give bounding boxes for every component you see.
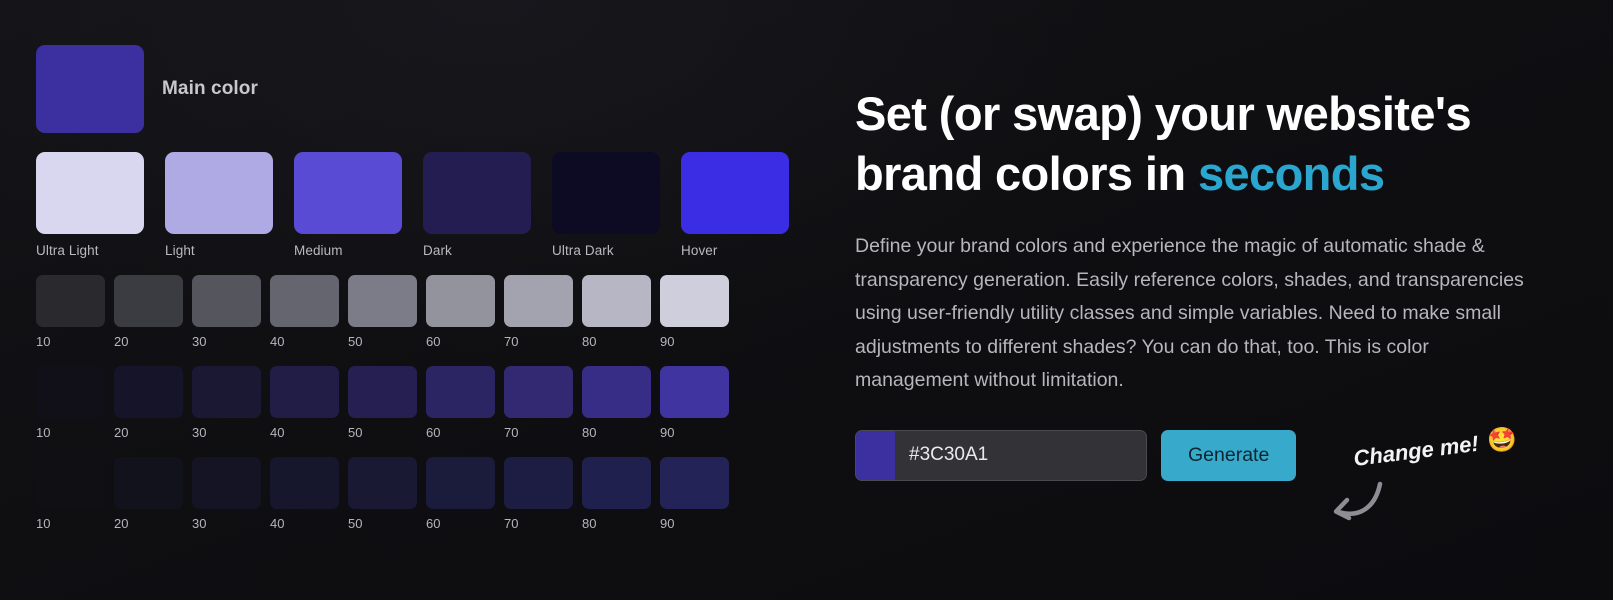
curved-arrow-icon	[1325, 478, 1383, 526]
color-palette-generator-page: Main color Ultra LightLightMediumDarkUlt…	[0, 0, 1613, 600]
named-shade-label: Hover	[681, 243, 789, 258]
star-struck-emoji-icon: 🤩	[1486, 427, 1519, 454]
shade-swatch[interactable]	[192, 457, 261, 509]
shade-cell: 30	[192, 366, 261, 440]
shade-step-label: 80	[582, 334, 651, 349]
generate-form: Generate Change me! 🤩	[855, 430, 1545, 481]
named-shade-label: Dark	[423, 243, 531, 258]
shade-cell: 30	[192, 275, 261, 349]
hex-color-input[interactable]	[895, 431, 1147, 480]
brand-transparencies-row: 102030405060708090	[36, 457, 796, 531]
shade-swatch[interactable]	[426, 275, 495, 327]
shade-swatch[interactable]	[114, 275, 183, 327]
named-shade-label: Ultra Dark	[552, 243, 660, 258]
shade-swatch[interactable]	[582, 457, 651, 509]
shade-swatch[interactable]	[192, 275, 261, 327]
generate-button[interactable]: Generate	[1161, 430, 1296, 481]
shade-swatch[interactable]	[270, 366, 339, 418]
shade-swatch[interactable]	[348, 275, 417, 327]
shade-swatch[interactable]	[660, 366, 729, 418]
shade-swatch[interactable]	[36, 366, 105, 418]
named-shade-cell: Medium	[294, 152, 402, 258]
hero-panel: Set (or swap) your website's brand color…	[855, 84, 1545, 481]
shade-step-label: 60	[426, 516, 495, 531]
shade-cell: 20	[114, 275, 183, 349]
shade-swatch[interactable]	[36, 275, 105, 327]
named-shades-row: Ultra LightLightMediumDarkUltra DarkHove…	[36, 152, 796, 258]
shade-cell: 60	[426, 457, 495, 531]
shade-cell: 50	[348, 275, 417, 349]
shade-swatch[interactable]	[582, 366, 651, 418]
shade-swatch[interactable]	[504, 457, 573, 509]
shade-step-label: 80	[582, 516, 651, 531]
shade-step-label: 90	[660, 516, 729, 531]
shade-step-label: 50	[348, 334, 417, 349]
shade-step-label: 10	[36, 516, 105, 531]
shade-swatch[interactable]	[192, 366, 261, 418]
shade-step-label: 10	[36, 334, 105, 349]
named-shade-swatch[interactable]	[36, 152, 144, 234]
shade-cell: 80	[582, 457, 651, 531]
named-shade-swatch[interactable]	[294, 152, 402, 234]
shade-cell: 10	[36, 366, 105, 440]
named-shade-swatch[interactable]	[552, 152, 660, 234]
brand-shades-row: 102030405060708090	[36, 366, 796, 440]
color-preview-chip[interactable]	[856, 431, 895, 480]
shade-cell: 80	[582, 275, 651, 349]
named-shade-cell: Ultra Light	[36, 152, 144, 258]
shade-swatch[interactable]	[348, 366, 417, 418]
main-color-swatch[interactable]	[36, 45, 144, 133]
shade-swatch[interactable]	[114, 366, 183, 418]
shade-step-label: 90	[660, 425, 729, 440]
shade-step-label: 30	[192, 425, 261, 440]
shade-cell: 30	[192, 457, 261, 531]
shade-cell: 50	[348, 366, 417, 440]
shade-swatch[interactable]	[36, 457, 105, 509]
hero-description: Define your brand colors and experience …	[855, 230, 1527, 398]
named-shade-swatch[interactable]	[681, 152, 789, 234]
shade-swatch[interactable]	[504, 275, 573, 327]
shade-cell: 40	[270, 366, 339, 440]
shade-step-label: 90	[660, 334, 729, 349]
shade-step-label: 70	[504, 334, 573, 349]
shade-cell: 60	[426, 366, 495, 440]
shade-swatch[interactable]	[426, 366, 495, 418]
shade-cell: 90	[660, 366, 729, 440]
named-shade-label: Medium	[294, 243, 402, 258]
shade-cell: 50	[348, 457, 417, 531]
page-title: Set (or swap) your website's brand color…	[855, 84, 1545, 204]
shade-step-label: 60	[426, 425, 495, 440]
shade-cell: 70	[504, 457, 573, 531]
shade-cell: 80	[582, 366, 651, 440]
shade-step-label: 10	[36, 425, 105, 440]
named-shade-cell: Ultra Dark	[552, 152, 660, 258]
change-me-label: Change me!	[1352, 431, 1480, 472]
shade-step-label: 60	[426, 334, 495, 349]
named-shade-label: Light	[165, 243, 273, 258]
named-shade-label: Ultra Light	[36, 243, 144, 258]
shade-swatch[interactable]	[270, 457, 339, 509]
shade-cell: 60	[426, 275, 495, 349]
shade-cell: 70	[504, 275, 573, 349]
shade-step-label: 20	[114, 425, 183, 440]
shade-step-label: 50	[348, 425, 417, 440]
heading-accent-word: seconds	[1198, 147, 1385, 200]
named-shade-swatch[interactable]	[165, 152, 273, 234]
shade-step-label: 70	[504, 425, 573, 440]
shade-cell: 10	[36, 457, 105, 531]
shade-rows: 1020304050607080901020304050607080901020…	[36, 275, 796, 531]
named-shade-swatch[interactable]	[423, 152, 531, 234]
color-input-group	[855, 430, 1147, 481]
shade-swatch[interactable]	[660, 275, 729, 327]
palette-panel: Main color Ultra LightLightMediumDarkUlt…	[36, 45, 796, 531]
named-shade-cell: Dark	[423, 152, 531, 258]
shade-swatch[interactable]	[660, 457, 729, 509]
shade-swatch[interactable]	[348, 457, 417, 509]
shade-swatch[interactable]	[582, 275, 651, 327]
shade-cell: 90	[660, 457, 729, 531]
shade-step-label: 40	[270, 425, 339, 440]
named-shade-cell: Hover	[681, 152, 789, 258]
shade-step-label: 20	[114, 334, 183, 349]
change-me-annotation: Change me! 🤩	[1352, 426, 1519, 472]
shade-swatch[interactable]	[270, 275, 339, 327]
shade-cell: 10	[36, 275, 105, 349]
shade-cell: 40	[270, 275, 339, 349]
shade-step-label: 50	[348, 516, 417, 531]
shade-cell: 70	[504, 366, 573, 440]
shade-step-label: 80	[582, 425, 651, 440]
neutral-shades-row: 102030405060708090	[36, 275, 796, 349]
main-color-row: Main color	[36, 45, 796, 133]
shade-step-label: 20	[114, 516, 183, 531]
shade-step-label: 30	[192, 516, 261, 531]
shade-swatch[interactable]	[114, 457, 183, 509]
shade-step-label: 40	[270, 516, 339, 531]
main-color-label: Main color	[162, 78, 258, 100]
shade-step-label: 70	[504, 516, 573, 531]
shade-cell: 40	[270, 457, 339, 531]
shade-cell: 20	[114, 457, 183, 531]
shade-swatch[interactable]	[426, 457, 495, 509]
shade-cell: 90	[660, 275, 729, 349]
shade-cell: 20	[114, 366, 183, 440]
shade-swatch[interactable]	[504, 366, 573, 418]
shade-step-label: 30	[192, 334, 261, 349]
shade-step-label: 40	[270, 334, 339, 349]
named-shade-cell: Light	[165, 152, 273, 258]
